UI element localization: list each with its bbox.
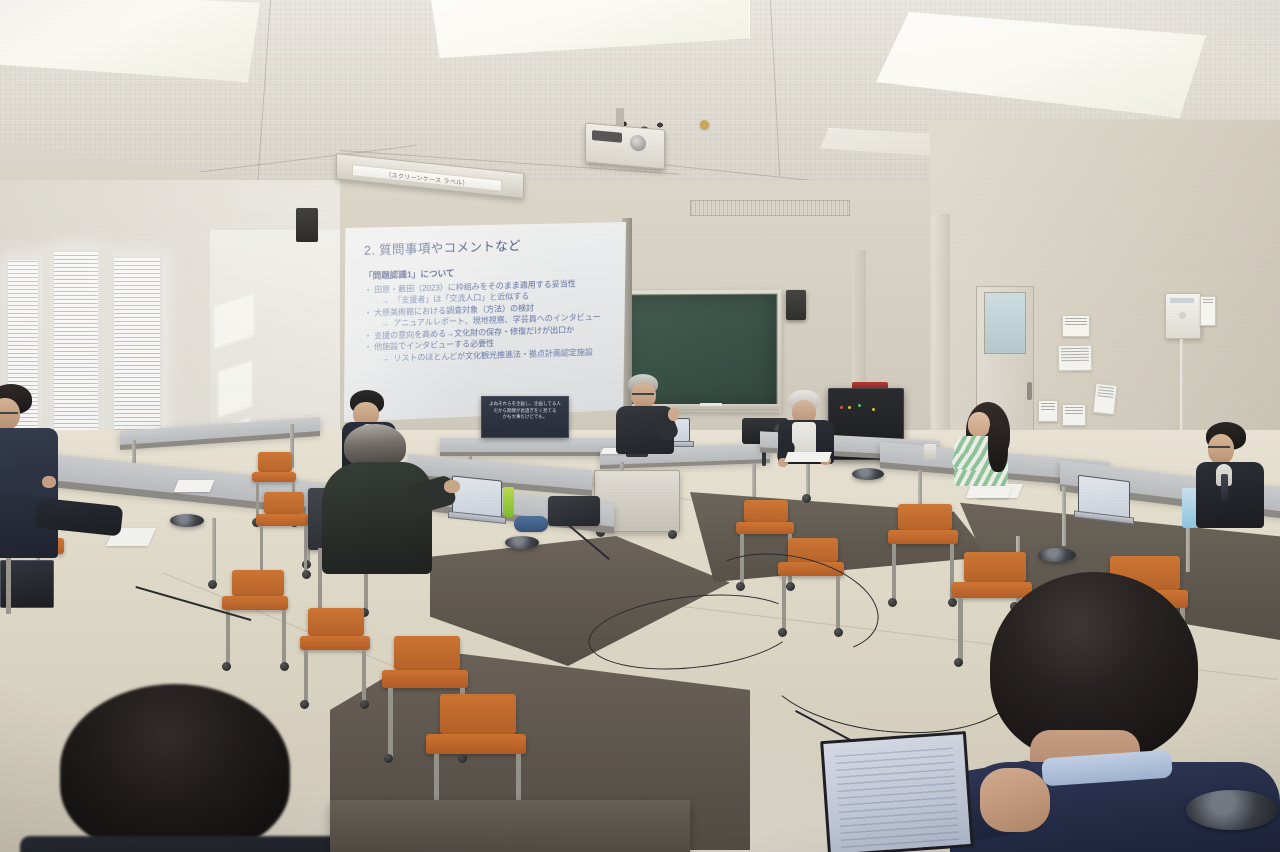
bullet-marker: → — [381, 319, 389, 328]
sign-line: よねそれらを企画し、企画してる人 — [485, 401, 565, 408]
chair-seat — [736, 522, 794, 534]
door-window — [984, 292, 1026, 354]
torso — [322, 462, 432, 574]
paper-sheet — [174, 480, 215, 492]
chair-back — [440, 694, 516, 734]
desk-caster — [802, 494, 811, 503]
wall-control-unit[interactable] — [1165, 293, 1201, 339]
hair-strand — [988, 418, 1008, 472]
wall-speaker — [786, 290, 806, 320]
chair-seat — [888, 530, 958, 544]
slide-title: 2. 質問事項やコメントなど — [364, 232, 614, 259]
drink-cup[interactable] — [924, 444, 936, 460]
chair-seat — [300, 636, 370, 650]
pouch — [514, 516, 548, 532]
chair-back — [898, 504, 952, 530]
status-led — [858, 404, 861, 407]
chair-seat — [222, 596, 288, 610]
projection-screen: 2. 質問事項やコメントなど 「問題認識1」について ・ 田原・藪田（2023）… — [344, 222, 626, 422]
head — [1208, 434, 1234, 464]
hand — [668, 408, 679, 421]
chair-frame — [304, 526, 307, 574]
chair-back — [744, 500, 788, 522]
seminar-room-photo: （スクリーンケース ラベル） 2. 質問事項やコメントなど 「問題認識1」につい… — [0, 0, 1280, 852]
drink-bottle[interactable] — [503, 487, 514, 517]
conference-speakerphone[interactable] — [170, 514, 204, 527]
chair-seat — [426, 734, 526, 754]
chair-back — [264, 492, 304, 514]
chair-frame — [226, 610, 230, 668]
chair-frame — [362, 650, 366, 706]
wall-notice — [1058, 345, 1092, 372]
chair-caster — [360, 700, 369, 709]
wall-notice — [1200, 296, 1216, 326]
chair-seat — [952, 582, 1032, 598]
chair-frame — [388, 688, 393, 760]
sprinkler-head-icon — [700, 120, 709, 129]
projector — [585, 123, 665, 170]
chair-frame — [6, 554, 11, 614]
desk-leg — [752, 464, 756, 502]
desk-foreground — [330, 800, 690, 852]
chair-back — [258, 452, 292, 472]
papers-read — [784, 452, 832, 462]
head — [968, 412, 990, 437]
wall-speaker — [296, 208, 318, 242]
door-handle[interactable] — [1027, 382, 1032, 400]
chair-caster — [888, 598, 897, 607]
desk-leg — [212, 518, 216, 584]
hand — [444, 480, 460, 493]
wall-notice — [1062, 315, 1090, 337]
glasses-icon — [632, 393, 654, 395]
desk-leg — [806, 458, 810, 498]
equipment-bag — [548, 496, 600, 526]
chair-frame — [282, 610, 286, 668]
status-led — [840, 406, 843, 409]
necktie — [1221, 474, 1228, 500]
chalk-stick — [700, 403, 722, 406]
conference-speakerphone[interactable] — [852, 468, 884, 480]
conference-speakerphone[interactable] — [505, 536, 539, 549]
bullet-marker: ・ — [364, 286, 372, 295]
chair-seat — [256, 514, 308, 526]
instruction-sign: よねそれらを企画し、企画してる人 だから期間が長過ぎをく見てる かも大事だけどで… — [481, 396, 569, 438]
hand — [42, 476, 56, 488]
status-led — [872, 408, 875, 411]
conference-speakerphone[interactable] — [1186, 790, 1278, 830]
chair-caster — [302, 570, 311, 579]
bullet-marker: ・ — [364, 309, 372, 318]
torso — [20, 836, 340, 852]
chair-back — [394, 636, 460, 670]
chair-caster — [384, 754, 393, 763]
chair-back — [964, 552, 1026, 582]
chair-caster — [948, 598, 957, 607]
desk-leg — [1062, 486, 1066, 546]
conference-speakerphone[interactable] — [1038, 548, 1076, 562]
wall-notice — [1092, 383, 1117, 415]
bullet-marker: → — [381, 354, 389, 363]
laptop-screen-text — [835, 744, 959, 848]
bullet-marker: → — [381, 297, 389, 306]
head — [631, 382, 656, 408]
chair-caster — [222, 662, 231, 671]
chair-seat — [252, 472, 296, 482]
desk-caster — [208, 580, 217, 589]
chair-frame — [304, 650, 308, 706]
wall-notice — [1038, 400, 1058, 422]
chair-frame — [260, 526, 263, 574]
status-led — [848, 406, 851, 409]
chair-seat — [382, 670, 468, 688]
chair-caster — [280, 662, 289, 671]
chair-back — [308, 608, 364, 636]
hand-at-neck — [980, 768, 1050, 832]
wall-notice — [1062, 404, 1086, 426]
paper-sheet — [966, 486, 1012, 498]
glasses-icon — [0, 412, 18, 414]
water-bottle[interactable] — [1182, 488, 1196, 528]
bullet-marker: ・ — [364, 331, 372, 340]
trolley-caster — [668, 530, 677, 539]
glasses-icon — [1208, 446, 1230, 448]
arm — [951, 452, 983, 471]
chair-caster — [300, 700, 309, 709]
bullet-marker: ・ — [364, 343, 372, 352]
chair-frame — [892, 544, 896, 602]
air-vent — [690, 200, 850, 216]
sign-line: かも大事だけどでも。 — [485, 414, 565, 421]
hair — [60, 684, 290, 852]
chair-caster — [458, 754, 467, 763]
chair-back — [232, 570, 284, 596]
